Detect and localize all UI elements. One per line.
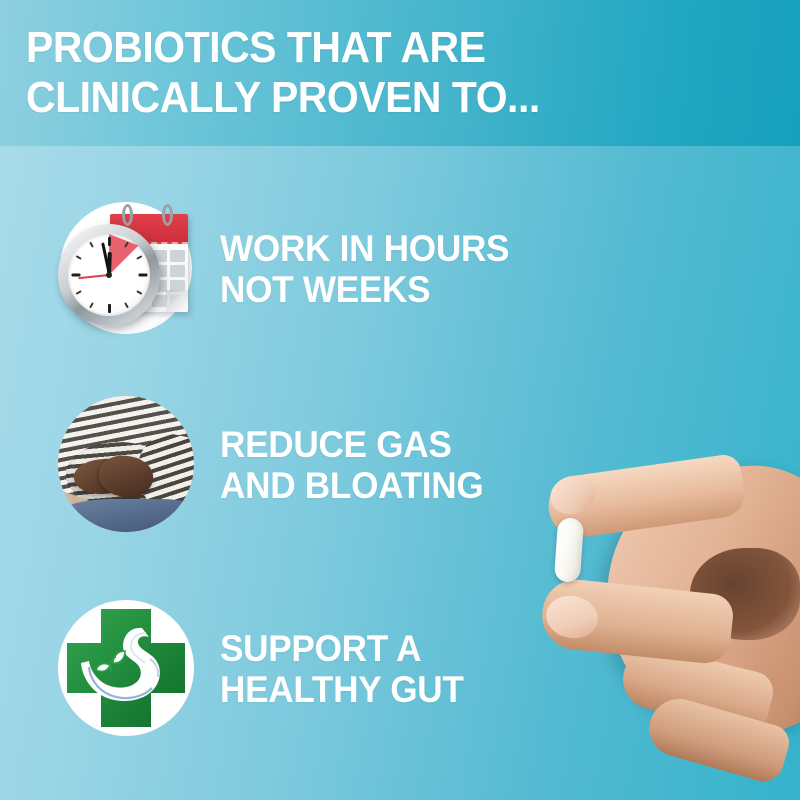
headline-line-2: CLINICALLY PROVEN TO... (26, 73, 722, 123)
benefit-row-reduce-gas: REDUCE GAS AND BLOATING (52, 392, 497, 538)
benefit-line-1: WORK IN HOURS (220, 228, 509, 269)
promotional-poster: PROBIOTICS THAT ARE CLINICALLY PROVEN TO… (0, 0, 800, 800)
benefit-line-1: SUPPORT A (220, 628, 464, 669)
green-medical-cross-gut-icon (52, 596, 198, 742)
clock-face (68, 234, 150, 316)
calendar-ring-icon (122, 204, 133, 226)
headline-line-1: PROBIOTICS THAT ARE (26, 23, 722, 73)
blue-jeans (58, 499, 194, 532)
clock-calendar-icon (52, 196, 198, 342)
benefit-line-2: HEALTHY GUT (220, 669, 464, 710)
stomach-silhouette-icon (80, 625, 172, 711)
benefit-row-healthy-gut: SUPPORT A HEALTHY GUT (52, 596, 476, 742)
probiotic-capsule-pill (554, 517, 584, 583)
calendar-ring-icon (162, 204, 173, 226)
benefit-line-2: AND BLOATING (220, 465, 483, 506)
poster-header-banner: PROBIOTICS THAT ARE CLINICALLY PROVEN TO… (0, 0, 800, 146)
benefit-text-block: SUPPORT A HEALTHY GUT (220, 628, 476, 710)
clock-center-pin (106, 272, 112, 278)
stomach-photo-circle (58, 396, 194, 532)
benefit-text-block: REDUCE GAS AND BLOATING (220, 424, 497, 506)
calendar-page-fold (166, 290, 188, 312)
leaf-pair-icon (96, 651, 125, 671)
hand-holding-pill-photo (530, 410, 800, 800)
benefit-line-1: REDUCE GAS (220, 424, 483, 465)
benefit-line-2: NOT WEEKS (220, 269, 509, 310)
benefit-text-block: WORK IN HOURS NOT WEEKS (220, 228, 524, 310)
clock-second-hand (78, 274, 109, 279)
clock-icon (58, 224, 160, 326)
bloated-stomach-photo-icon (52, 392, 198, 538)
icon-backdrop-circle (58, 600, 194, 736)
benefit-row-work-in-hours: WORK IN HOURS NOT WEEKS (52, 196, 524, 342)
clock-elapsed-wedge (109, 234, 150, 275)
